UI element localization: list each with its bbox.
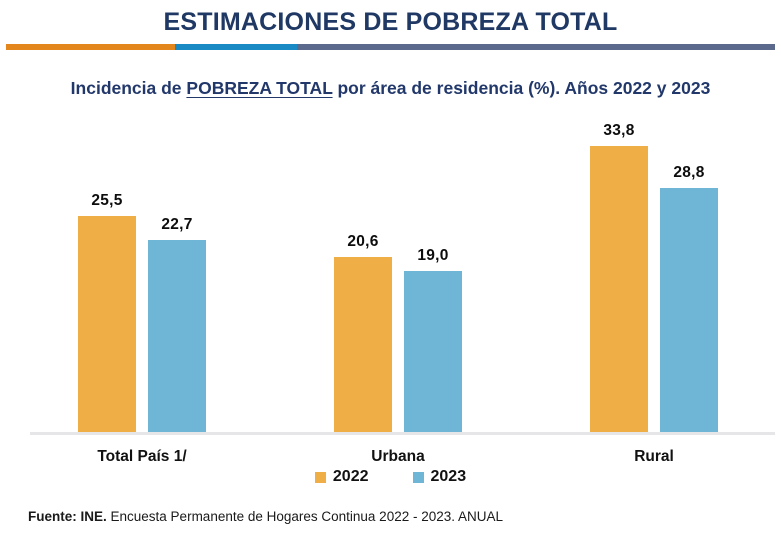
bar-value-label: 19,0	[417, 247, 448, 265]
legend-item-2023[interactable]: 2023	[413, 468, 467, 486]
bar-2023-total-pais[interactable]	[148, 240, 206, 432]
bar-wrap-2022-total-pais: 25,5	[78, 110, 136, 432]
category-label-total-pais: Total País 1/	[42, 448, 242, 466]
divider-segment-orange	[6, 44, 175, 50]
bar-wrap-2023-total-pais: 22,7	[148, 110, 206, 432]
source-note-detail: Encuesta Permanente de Hogares Continua …	[107, 509, 503, 524]
legend-label-2022: 2022	[333, 468, 369, 486]
bar-2022-urbana[interactable]	[334, 257, 392, 432]
page-title: ESTIMACIONES DE POBREZA TOTAL	[0, 8, 781, 37]
bar-value-label: 28,8	[673, 164, 704, 182]
category-label-rural: Rural	[554, 448, 754, 466]
bar-group-bars: 25,5 22,7	[42, 110, 242, 432]
legend-swatch-icon-2023	[413, 472, 424, 483]
header-divider-rule	[6, 44, 775, 50]
bar-2022-rural[interactable]	[590, 146, 648, 432]
chart-legend: 2022 2023	[0, 468, 781, 486]
x-axis-baseline	[30, 432, 775, 435]
bar-2023-urbana[interactable]	[404, 271, 462, 432]
bar-group-urbana: 20,6 19,0 Urbana	[298, 110, 498, 432]
legend-swatch-icon-2022	[315, 472, 326, 483]
bar-group-total-pais: 25,5 22,7 Total País 1/	[42, 110, 242, 432]
chart-plot-area: 25,5 22,7 Total País 1/ 20,6 19,0 Urbana	[0, 110, 781, 435]
subtitle-lead: Incidencia de	[71, 78, 187, 98]
bar-group-bars: 33,8 28,8	[554, 110, 754, 432]
subtitle-trail: por área de residencia (%). Años 2022 y …	[333, 78, 711, 98]
bar-wrap-2023-urbana: 19,0	[404, 110, 462, 432]
subtitle-emphasis: POBREZA TOTAL	[186, 78, 332, 98]
bar-value-label: 25,5	[91, 192, 122, 210]
bar-group-rural: 33,8 28,8 Rural	[554, 110, 754, 432]
bar-group-bars: 20,6 19,0	[298, 110, 498, 432]
chart-subtitle: Incidencia de POBREZA TOTAL por área de …	[0, 78, 781, 99]
legend-label-2023: 2023	[431, 468, 467, 486]
legend-item-2022[interactable]: 2022	[315, 468, 369, 486]
source-note-label: Fuente: INE.	[28, 509, 107, 524]
bar-2022-total-pais[interactable]	[78, 216, 136, 432]
bar-2023-rural[interactable]	[660, 188, 718, 432]
source-note: Fuente: INE. Encuesta Permanente de Hoga…	[28, 509, 503, 524]
divider-segment-blue	[175, 44, 297, 50]
bar-value-label: 22,7	[161, 216, 192, 234]
bar-wrap-2023-rural: 28,8	[660, 110, 718, 432]
category-label-urbana: Urbana	[298, 448, 498, 466]
bar-value-label: 33,8	[603, 122, 634, 140]
bar-wrap-2022-urbana: 20,6	[334, 110, 392, 432]
bar-value-label: 20,6	[347, 233, 378, 251]
bar-wrap-2022-rural: 33,8	[590, 110, 648, 432]
divider-segment-navy	[297, 44, 775, 50]
